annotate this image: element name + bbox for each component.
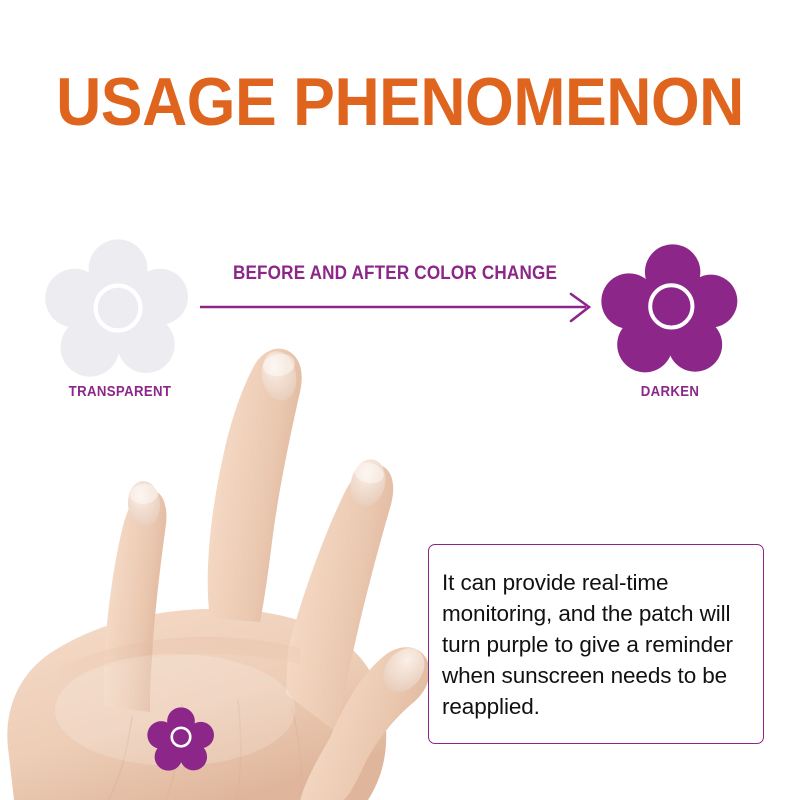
poster-canvas: USAGE PHENOMENON [0,0,800,800]
color-change-caption: BEFORE AND AFTER COLOR CHANGE [220,264,571,283]
label-transparent: TRANSPARENT [14,384,225,399]
page-title: USAGE PHENOMENON [32,68,768,136]
flower-icon-darken [604,243,736,375]
flower-icon-transparent [48,238,188,378]
info-box-text: It can provide real-time monitoring, and… [442,567,755,722]
right-arrow-icon [198,292,598,324]
info-box: It can provide real-time monitoring, and… [428,544,764,744]
flower-icon-patch-on-hand [148,706,214,772]
label-darken: DARKEN [591,384,749,399]
